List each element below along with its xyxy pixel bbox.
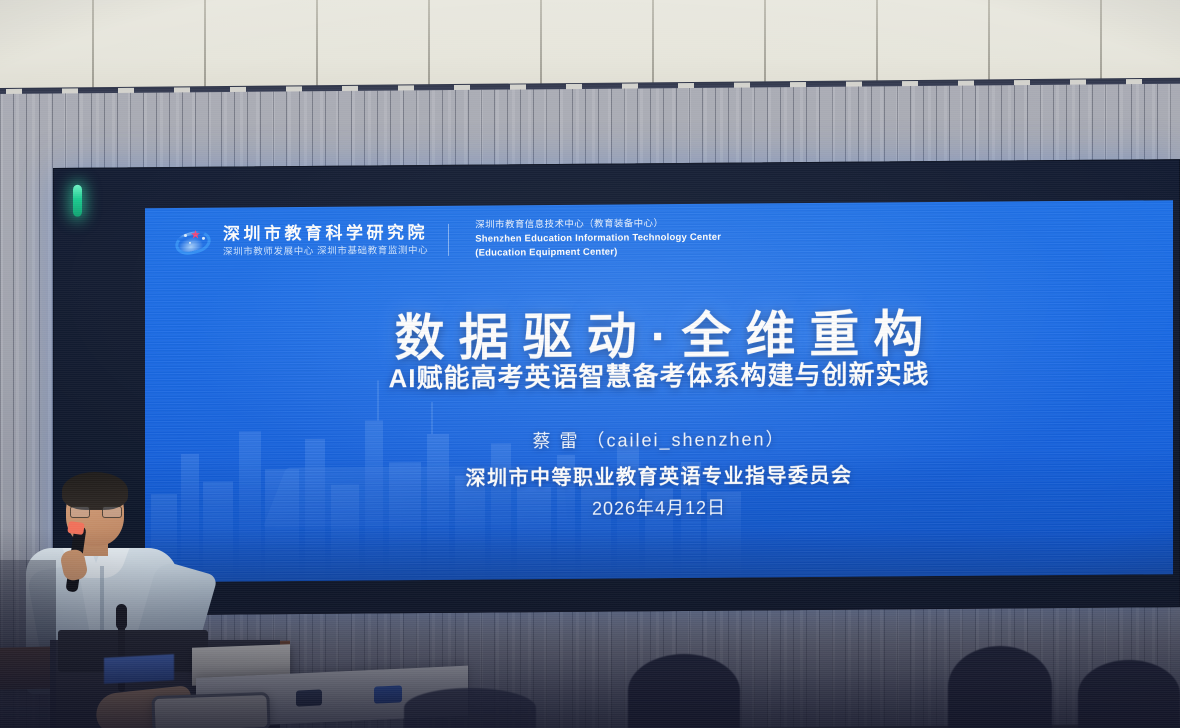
header-divider <box>448 224 449 256</box>
audience-head-1 <box>628 654 740 728</box>
power-led-icon <box>73 185 82 217</box>
slide-header: 深圳市教育科学研究院 深圳市教师发展中心 深圳市基础教育监测中心 深圳市教育信息… <box>175 210 1143 266</box>
audience-head-3 <box>1078 660 1180 728</box>
audience-head-0 <box>404 688 536 728</box>
recording-smartphone[interactable] <box>151 692 270 728</box>
audience-head-2 <box>948 646 1052 728</box>
foreground-left-shadow <box>0 560 56 728</box>
dark-smartphone[interactable] <box>296 689 322 706</box>
org-main-name: 深圳市教育科学研究院 <box>223 223 428 244</box>
tech-center-block: 深圳市教育信息技术中心（教育装备中心） Shenzhen Education I… <box>475 217 721 260</box>
org-identity-block: 深圳市教育科学研究院 深圳市教师发展中心 深圳市基础教育监测中心 <box>223 223 428 258</box>
podium-blue-light <box>104 654 174 684</box>
blue-smartphone[interactable] <box>374 685 402 703</box>
presentation-photo-scene: 深圳市教育科学研究院 深圳市教师发展中心 深圳市基础教育监测中心 深圳市教育信息… <box>0 0 1180 728</box>
tech-center-en-line2: (Education Equipment Center) <box>475 245 721 261</box>
academy-emblem-icon <box>175 228 211 256</box>
microphone-foam-band <box>67 521 85 535</box>
speaker-hair <box>62 472 128 510</box>
eyeglasses-icon <box>70 506 122 518</box>
org-sub-name: 深圳市教师发展中心 深圳市基础教育监测中心 <box>223 245 428 258</box>
